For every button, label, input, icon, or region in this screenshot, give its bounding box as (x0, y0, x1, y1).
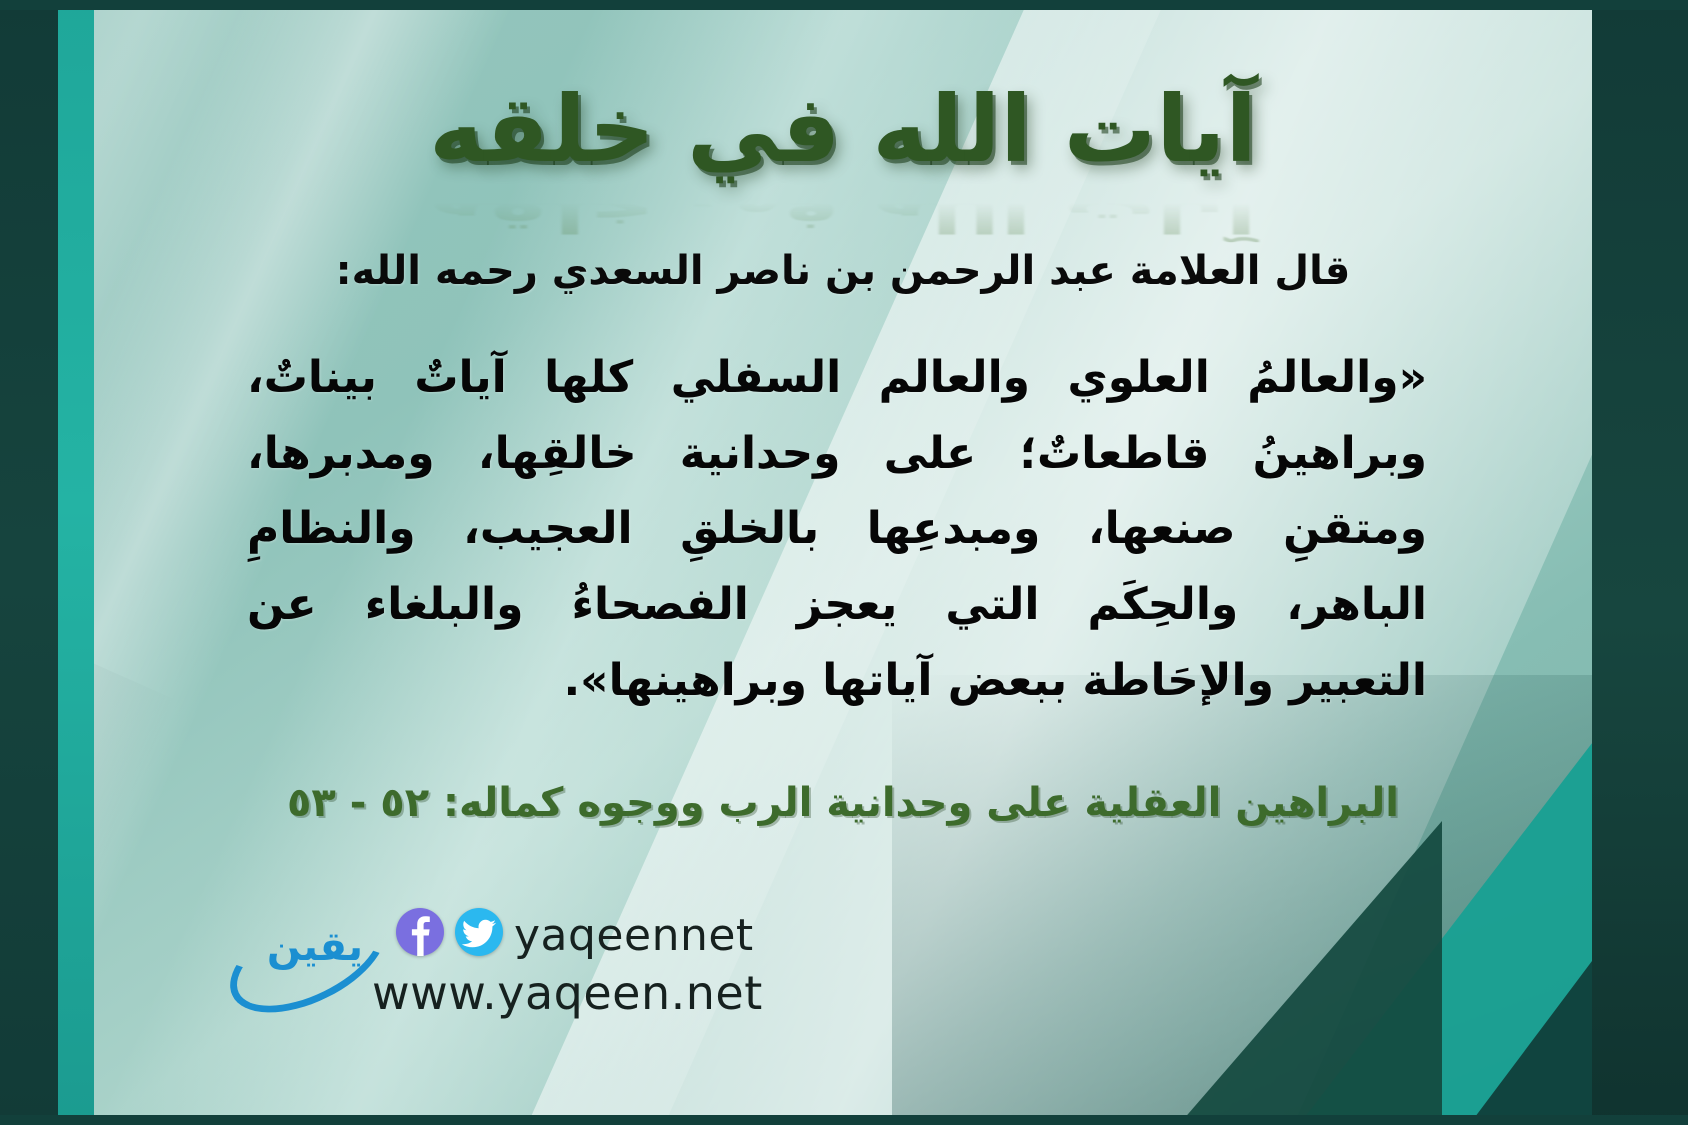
quote-line: ومتقنِ صنعها، ومبدعِها بالخلقِ العجيب، و… (247, 491, 1427, 567)
quote-line: الباهر، والحِكَم التي يعجز الفصحاءُ والب… (247, 567, 1427, 643)
frame-right-dark-bar (1592, 0, 1688, 1125)
attribution-line: قال العلامة عبد الرحمن بن ناصر السعدي رح… (94, 248, 1592, 294)
quote-line: «والعالمُ العلوي والعالم السفلي كلها آيا… (247, 340, 1427, 416)
poster-background: آيات الله في خلقه آيات الله في خلقه قال … (94, 10, 1592, 1115)
facebook-icon[interactable] (396, 908, 444, 956)
dark-wedge-small (1472, 921, 1592, 1115)
poster-title: آيات الله في خلقه (94, 82, 1592, 179)
yaqeen-logo: يقين (224, 906, 394, 1006)
footer-branding: يقين yaqeennet www.yaqeen.net (214, 898, 854, 1018)
quote-line: التعبير والإحَاطة ببعض آياتها وبراهينها»… (247, 643, 1427, 719)
title-block: آيات الله في خلقه آيات الله في خلقه (94, 82, 1592, 268)
poster-title-reflection: آيات الله في خلقه (94, 186, 1592, 242)
frame-top-bar (0, 0, 1688, 10)
twitter-icon[interactable] (455, 908, 503, 956)
quote-line: وبراهينُ قاطعاتٌ؛ على وحدانية خالقِها، و… (247, 416, 1427, 492)
dark-wedge (1182, 821, 1442, 1115)
poster-canvas: آيات الله في خلقه آيات الله في خلقه قال … (0, 0, 1688, 1125)
quote-body: «والعالمُ العلوي والعالم السفلي كلها آيا… (247, 340, 1427, 718)
frame-left-teal-bar (58, 0, 94, 1125)
website-url[interactable]: www.yaqeen.net (372, 966, 763, 1020)
logo-arabic-text: يقين (250, 924, 380, 970)
frame-left-dark-bar (0, 0, 58, 1125)
social-links (396, 908, 509, 956)
frame-bottom-bar (0, 1115, 1688, 1125)
social-handle[interactable]: yaqeennet (514, 910, 754, 961)
source-citation: البراهين العقلية على وحدانية الرب ووجوه … (94, 780, 1592, 826)
